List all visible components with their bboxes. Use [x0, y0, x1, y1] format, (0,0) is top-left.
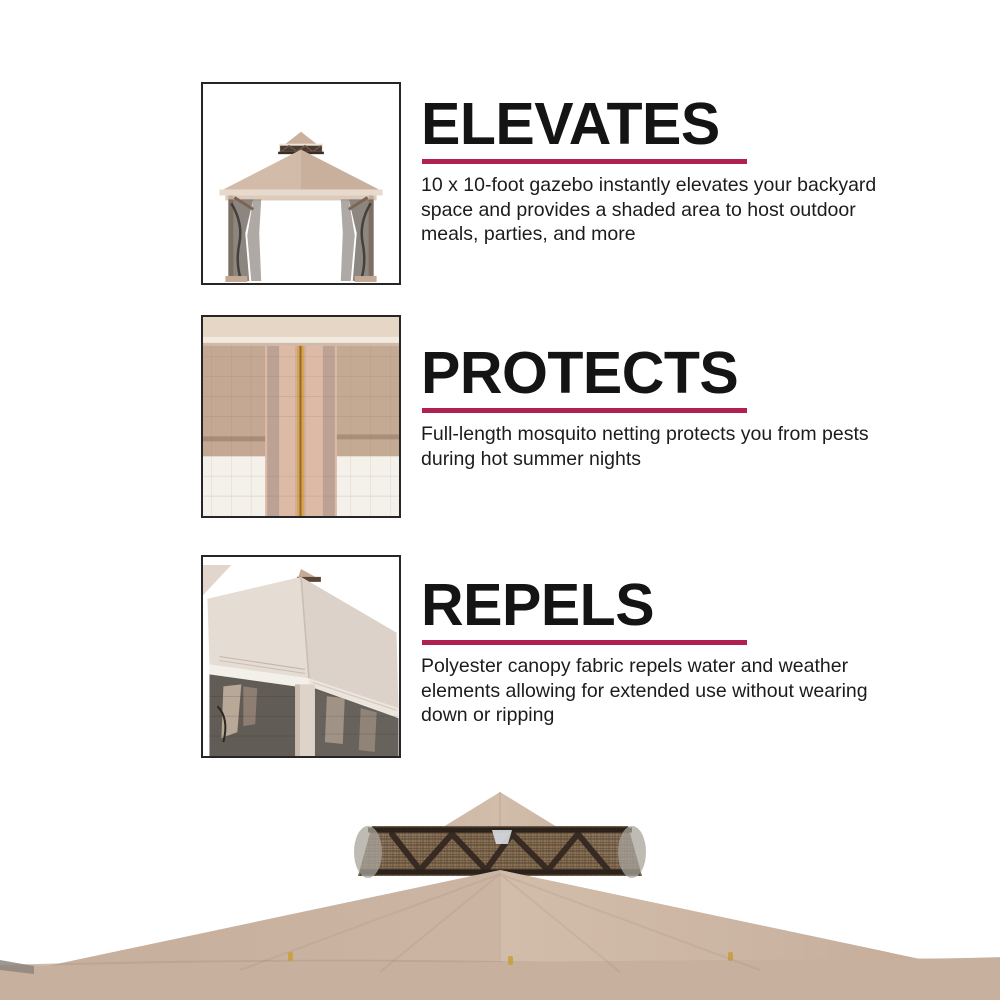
feature-text-protects: PROTECTS Full-length mosquito netting pr… — [421, 345, 891, 471]
feature-title-repels: REPELS — [421, 577, 891, 635]
feature-title-rule-protects — [422, 408, 747, 413]
feature-row-repels: REPELS Polyester canopy fabric repels wa… — [0, 555, 1000, 760]
gazebo-full-view-photo — [203, 84, 399, 283]
feature-row-protects: PROTECTS Full-length mosquito netting pr… — [0, 315, 1000, 520]
feature-thumbnail-elevates — [201, 82, 401, 285]
feature-thumbnail-protects — [201, 315, 401, 518]
feature-title-protects: PROTECTS — [421, 345, 891, 403]
feature-description-elevates: 10 x 10-foot gazebo instantly elevates y… — [421, 173, 891, 247]
feature-title-rule-elevates — [422, 159, 747, 164]
gazebo-canopy-roof-hero-photo — [0, 770, 1000, 1000]
feature-thumbnail-repels — [201, 555, 401, 758]
feature-description-protects: Full-length mosquito netting protects yo… — [421, 422, 891, 472]
feature-title-rule-repels — [422, 640, 747, 645]
feature-description-repels: Polyester canopy fabric repels water and… — [421, 654, 891, 728]
feature-row-elevates: ELEVATES 10 x 10-foot gazebo instantly e… — [0, 82, 1000, 287]
canopy-corner-closeup-photo — [203, 557, 399, 756]
feature-text-repels: REPELS Polyester canopy fabric repels wa… — [421, 577, 891, 728]
product-feature-infographic: ELEVATES 10 x 10-foot gazebo instantly e… — [0, 0, 1000, 1000]
mosquito-netting-zipper-closeup-photo — [203, 317, 399, 516]
hero-image-container — [0, 770, 1000, 1000]
feature-title-elevates: ELEVATES — [421, 96, 891, 154]
feature-text-elevates: ELEVATES 10 x 10-foot gazebo instantly e… — [421, 96, 891, 247]
